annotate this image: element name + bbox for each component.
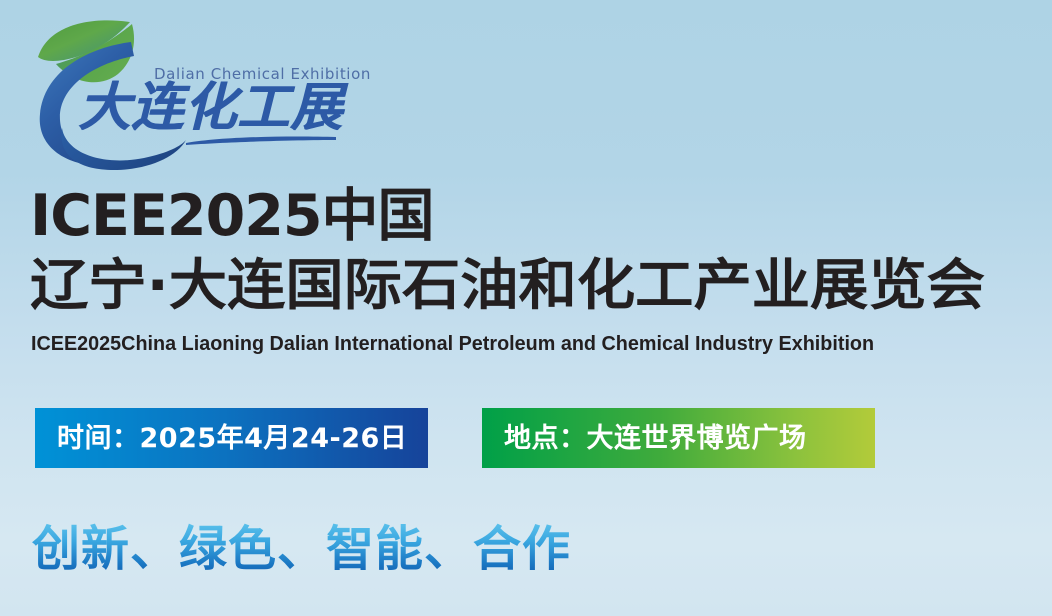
page-title-line-1: ICEE2025中国 [30, 188, 434, 245]
page-title-line-2: 辽宁·大连国际石油和化工产业展览会 [30, 258, 985, 313]
slogan-text: 创新、绿色、智能、合作 [32, 522, 571, 577]
page-title-english: ICEE2025China Liaoning Dalian Internatio… [31, 333, 874, 356]
date-badge: 时间：2025年4月24-26日 [35, 408, 428, 468]
exhibition-logo[interactable]: Dalian Chemical Exhibition 大连化工展 [26, 12, 326, 172]
logo-underline-swoosh-icon [186, 136, 336, 146]
venue-badge-label: 地点：大连世界博览广场 [504, 425, 807, 452]
date-badge-label: 时间：2025年4月24-26日 [57, 425, 407, 452]
exhibition-poster-banner: Dalian Chemical Exhibition 大连化工展 ICEE202… [0, 0, 1052, 616]
venue-badge: 地点：大连世界博览广场 [482, 408, 875, 468]
logo-chinese-name: 大连化工展 [78, 82, 343, 134]
